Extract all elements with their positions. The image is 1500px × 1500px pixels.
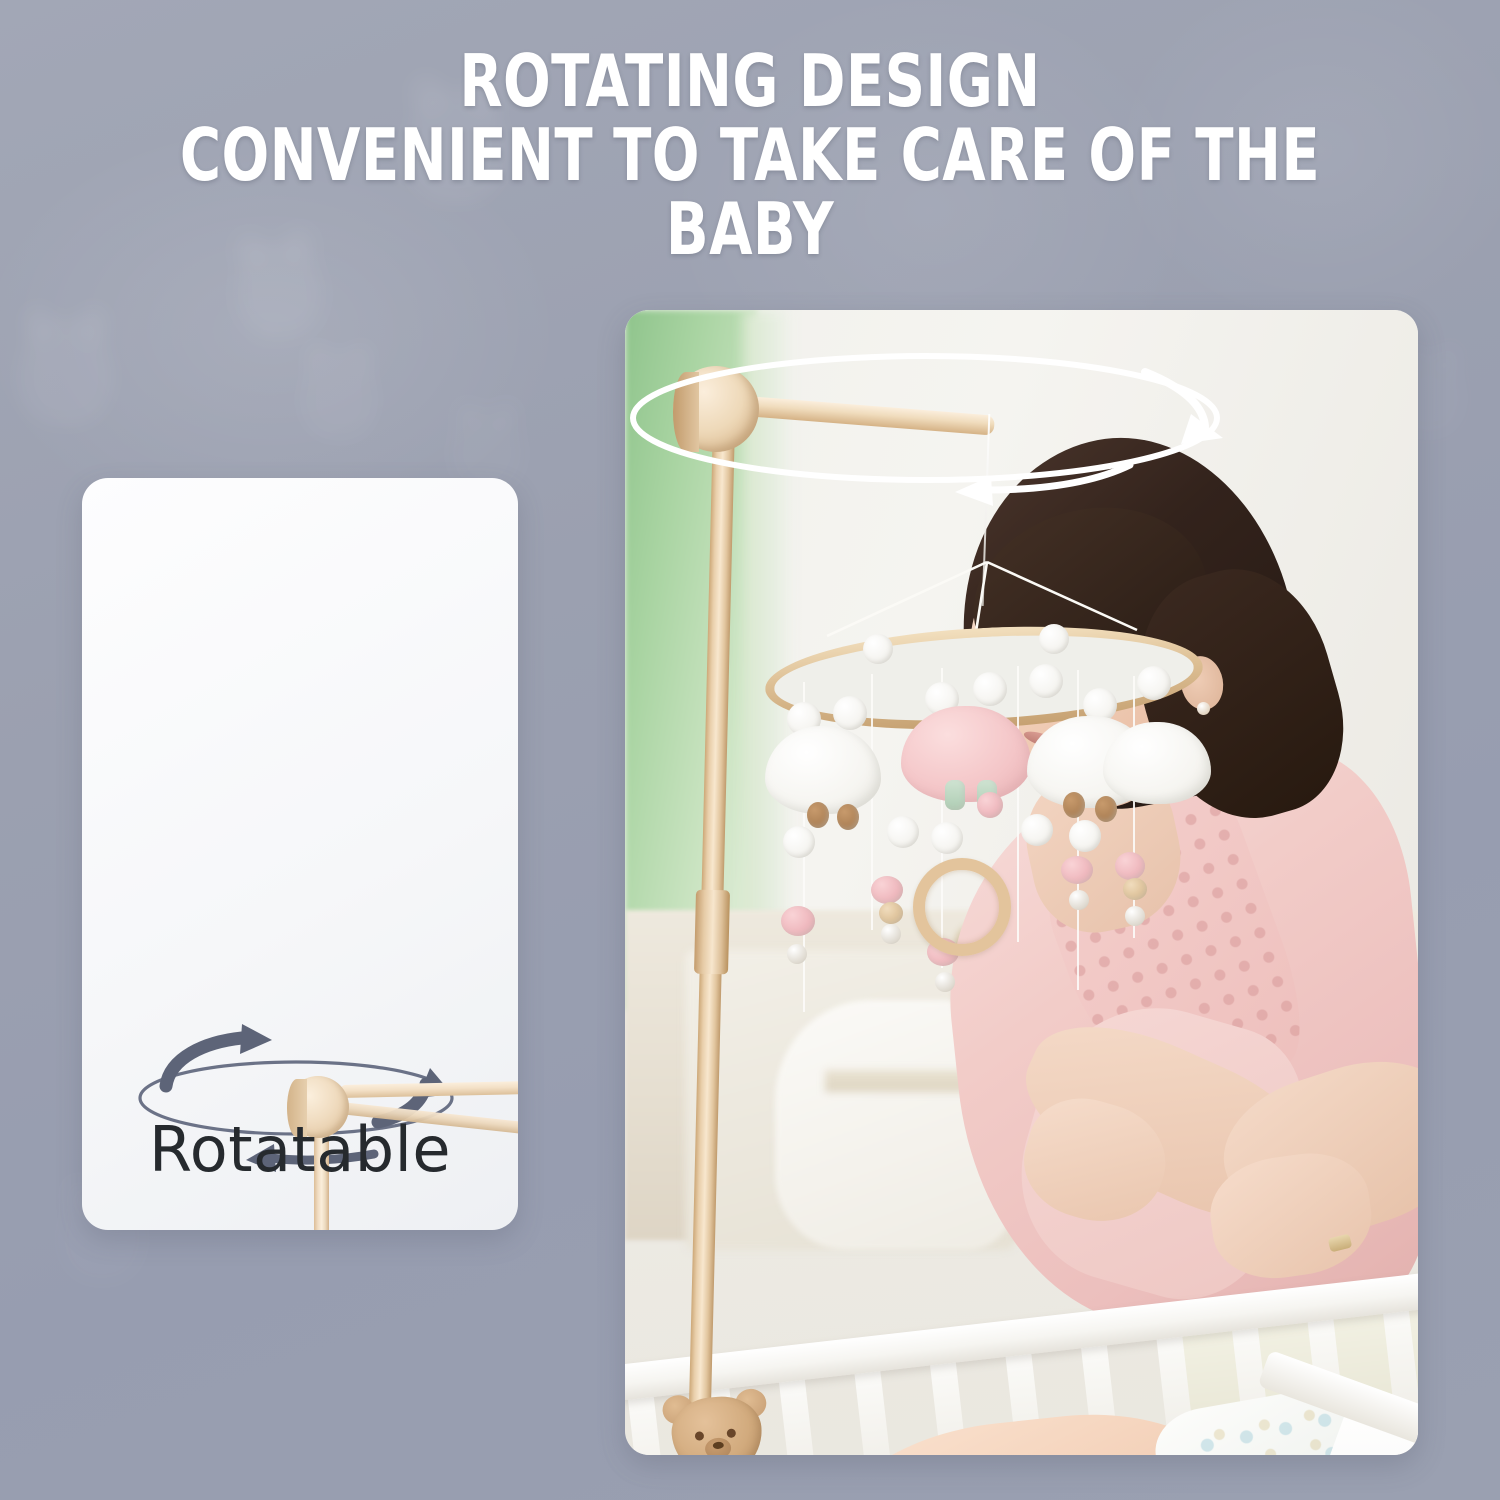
lifestyle-photo xyxy=(625,310,1418,1455)
rotation-indicator-ellipse-icon xyxy=(625,310,1418,1455)
rotatable-feature-card: Rotatable xyxy=(82,478,518,1230)
feature-card-caption: Rotatable xyxy=(82,1113,518,1186)
headline: ROTATING DESIGN CONVENIENT TO TAKE CARE … xyxy=(165,44,1335,266)
bear-watermark-icon xyxy=(300,352,378,440)
marketing-canvas: ROTATING DESIGN CONVENIENT TO TAKE CARE … xyxy=(0,0,1500,1500)
bear-watermark-icon xyxy=(18,318,114,426)
